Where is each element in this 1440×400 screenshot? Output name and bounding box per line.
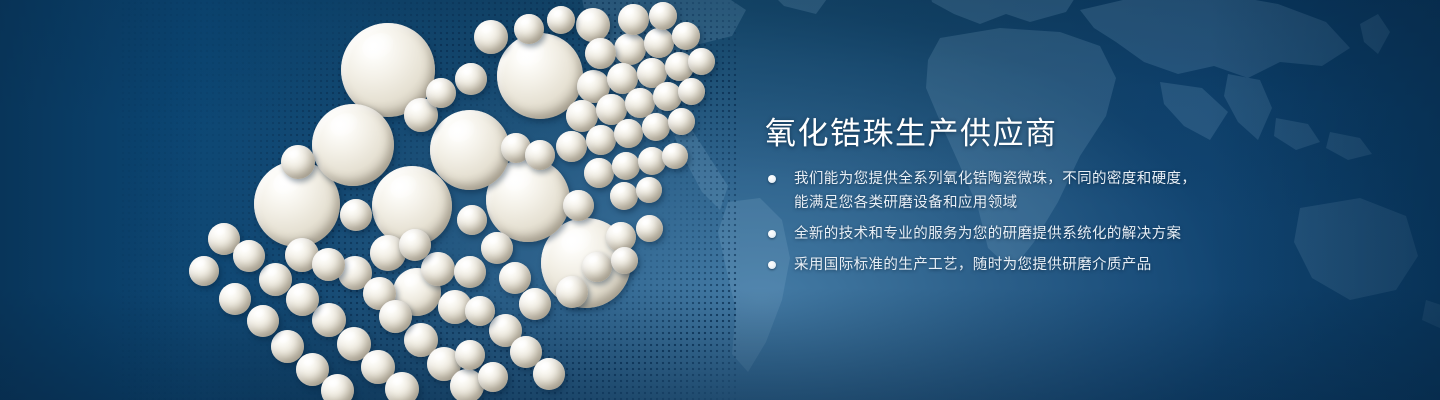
ceramic-bead [688,48,715,75]
ceramic-bead [556,276,588,308]
ceramic-bead [219,283,251,315]
ceramic-bead [678,78,705,105]
ceramic-bead [576,8,610,42]
ceramic-bead [556,131,587,162]
ceramic-bead [312,104,394,186]
ceramic-bead [321,374,354,400]
ceramic-bead [610,182,638,210]
ceramic-bead [586,125,616,155]
list-item-text: 能满足您各类研磨设备和应用领域 [794,191,1367,215]
ceramic-bead [584,158,614,188]
ceramic-bead [636,215,663,242]
ceramic-bead [247,305,279,337]
ceramic-bead [642,113,670,141]
ceramic-bead [612,152,640,180]
list-item-text: 采用国际标准的生产工艺，随时为您提供研磨介质产品 [794,253,1367,277]
ceramic-bead [286,283,319,316]
ceramic-bead [644,28,674,58]
ceramic-bead [457,205,487,235]
ceramic-bead [662,143,688,169]
ceramic-bead [611,247,638,274]
ceramic-bead [614,119,643,148]
ceramic-bead [668,108,695,135]
ceramic-bead [312,248,345,281]
list-item-text: 我们能为您提供全系列氧化锆陶瓷微珠，不同的密度和硬度， [794,167,1367,191]
ceramic-bead [636,177,662,203]
product-photo-beads [0,0,760,400]
ceramic-bead [478,362,508,392]
ceramic-bead [455,340,485,370]
ceramic-bead [582,252,612,282]
ceramic-bead [465,296,495,326]
ceramic-bead [281,145,315,179]
list-item: 采用国际标准的生产工艺，随时为您提供研磨介质产品 [767,253,1367,277]
ceramic-bead [618,4,649,35]
ceramic-bead [519,288,551,320]
hero-banner: 氧化锆珠生产供应商 我们能为您提供全系列氧化锆陶瓷微珠，不同的密度和硬度，能满足… [0,0,1440,400]
ceramic-bead [481,232,513,264]
list-item: 全新的技术和专业的服务为您的研磨提供系统化的解决方案 [767,222,1367,246]
ceramic-bead [563,190,594,221]
ceramic-bead [340,199,372,231]
ceramic-bead [514,14,544,44]
ceramic-bead [672,22,700,50]
ceramic-bead [189,256,219,286]
page-title: 氧化锆珠生产供应商 [765,108,1058,153]
ceramic-bead [430,110,510,190]
ceramic-bead [525,140,555,170]
bullet-dot-icon [768,230,776,238]
ceramic-bead [614,33,646,65]
ceramic-bead [533,358,565,390]
ceramic-bead [399,229,431,261]
ceramic-bead [379,300,412,333]
feature-list: 我们能为您提供全系列氧化锆陶瓷微珠，不同的密度和硬度，能满足您各类研磨设备和应用… [767,167,1367,277]
ceramic-bead [421,252,455,286]
ceramic-bead [385,372,419,400]
banner-content: 氧化锆珠生产供应商 我们能为您提供全系列氧化锆陶瓷微珠，不同的密度和硬度，能满足… [765,0,1385,400]
bullet-dot-icon [768,175,776,183]
ceramic-bead [653,82,682,111]
ceramic-bead [454,256,486,288]
ceramic-bead [547,6,575,34]
ceramic-bead [649,2,677,30]
ceramic-bead [426,78,456,108]
ceramic-bead [233,240,265,272]
list-item: 我们能为您提供全系列氧化锆陶瓷微珠，不同的密度和硬度，能满足您各类研磨设备和应用… [767,167,1367,215]
ceramic-bead [474,20,508,54]
ceramic-bead [585,38,616,69]
ceramic-bead [455,63,487,95]
bullet-dot-icon [768,261,776,269]
list-item-text: 全新的技术和专业的服务为您的研磨提供系统化的解决方案 [794,222,1367,246]
